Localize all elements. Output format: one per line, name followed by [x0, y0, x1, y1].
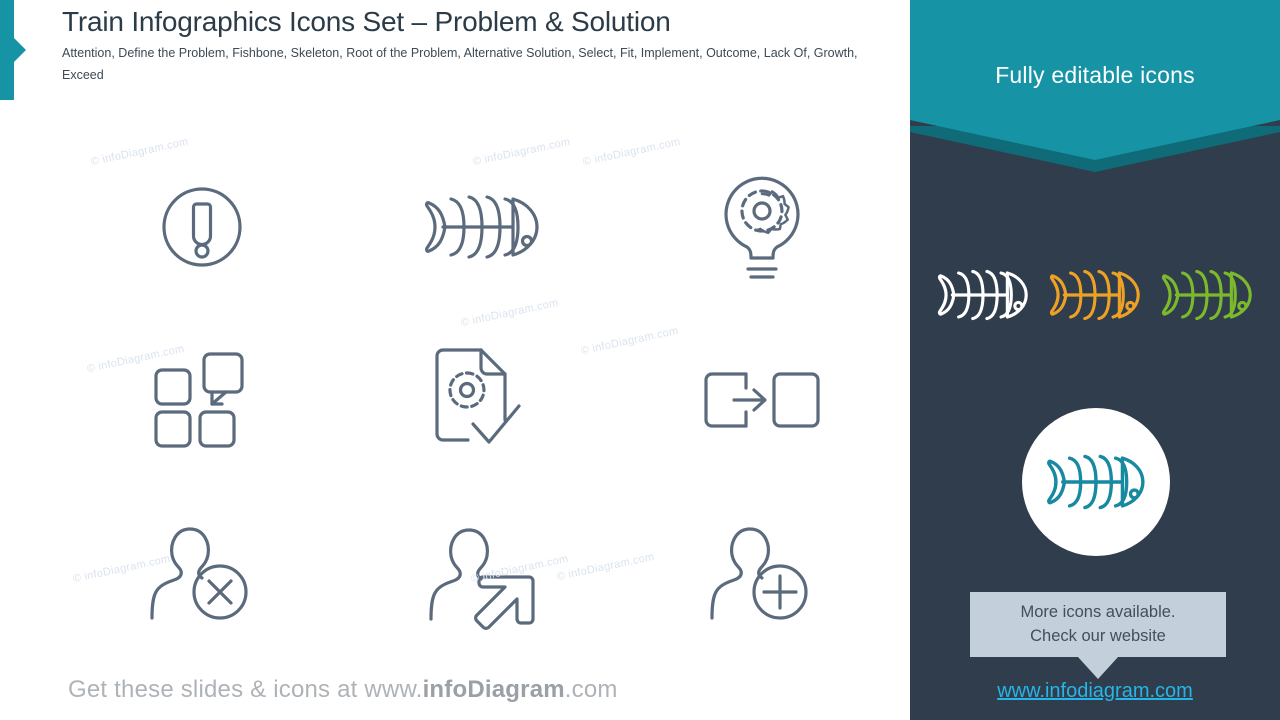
icon-cell-fishbone[interactable]: © infoDiagram.com	[342, 140, 622, 313]
icon-cell-growth[interactable]: © infoDiagram.com	[342, 487, 622, 660]
more-icons-callout: More icons available. Check our website	[970, 592, 1226, 657]
attention-icon	[156, 181, 248, 273]
left-accent-chevron-icon	[14, 38, 26, 62]
icon-cell-implement[interactable]: © infoDiagram.com	[342, 313, 622, 486]
person-add-icon	[710, 522, 814, 624]
person-remove-icon	[150, 522, 254, 624]
watermark: © infoDiagram.com	[472, 136, 572, 168]
fish-variant-row	[910, 262, 1280, 328]
fishbone-white-icon	[934, 262, 1032, 328]
lightbulb-gear-icon	[712, 171, 812, 283]
icon-cell-alternative-solution[interactable]: © infoDiagram.com	[622, 140, 902, 313]
document-gear-check-icon	[433, 346, 531, 454]
squares-select-icon	[152, 352, 252, 448]
icon-cell-fit[interactable]: © infoDiagram.com	[622, 313, 902, 486]
fishbone-teal-icon	[1044, 446, 1148, 518]
panel-header-title: Fully editable icons	[910, 62, 1280, 89]
footer-suffix: .com	[565, 676, 618, 703]
icon-cell-lack-of[interactable]: © infoDiagram.com	[62, 487, 342, 660]
person-growth-arrow-icon	[429, 523, 535, 623]
icon-grid: © infoDiagram.com © infoDiagram.com © in…	[62, 140, 902, 660]
watermark: © infoDiagram.com	[90, 136, 190, 168]
icon-cell-select[interactable]: © infoDiagram.com	[62, 313, 342, 486]
fishbone-badge	[1022, 408, 1170, 556]
fishbone-orange-icon	[1046, 262, 1144, 328]
callout-line-2: Check our website	[1030, 625, 1166, 648]
left-accent-bar	[0, 0, 14, 100]
box-arrow-box-icon	[704, 368, 820, 432]
callout-line-1: More icons available.	[1021, 601, 1176, 624]
fishbone-green-icon	[1158, 262, 1256, 328]
website-link[interactable]: www.infodiagram.com	[910, 680, 1280, 703]
callout-tail	[1078, 657, 1118, 679]
page-title: Train Infographics Icons Set – Problem &…	[62, 6, 892, 38]
footer-text: Get these slides & icons at www.infoDiag…	[68, 676, 618, 704]
footer-prefix: Get these slides & icons at www.	[68, 676, 423, 703]
slide-header: Train Infographics Icons Set – Problem &…	[62, 6, 892, 87]
footer-brand: infoDiagram	[423, 676, 565, 703]
icon-cell-exceed[interactable]: © infoDiagram.com	[622, 487, 902, 660]
page-subtitle: Attention, Define the Problem, Fishbone,…	[62, 43, 872, 87]
icon-cell-attention[interactable]: © infoDiagram.com	[62, 140, 342, 313]
fishbone-icon	[421, 185, 543, 269]
